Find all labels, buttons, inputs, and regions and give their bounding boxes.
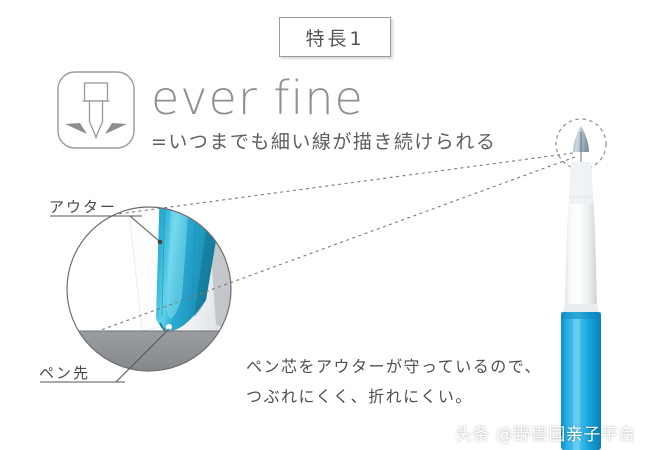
pen-illustration: [519, 118, 649, 450]
feature-description-line-1: ペン芯をアウターが守っているので、: [246, 352, 542, 382]
feature-description: ペン芯をアウターが守っているので、 つぶれにくく、折れにくい。: [246, 352, 542, 412]
brand-wordmark: ever fine: [151, 70, 364, 126]
feature-slide: 特長1 ever fine =いつまでも細い線が描き続けられる: [0, 0, 665, 450]
magnified-pen-tip-detail: [56, 205, 242, 373]
watermark: 头条 @野兽国亲子平台: [455, 420, 636, 445]
pen-tip-icon: [56, 70, 136, 150]
callout-label-pen-tip: ペン先: [39, 362, 90, 383]
feature-number-badge: 特長1: [279, 17, 391, 57]
feature-description-line-2: つぶれにくく、折れにくい。: [246, 382, 542, 412]
feature-number-label: 特長1: [305, 24, 364, 51]
brand-tagline: =いつまでも細い線が描き続けられる: [151, 127, 496, 154]
callout-label-outer: アウター: [49, 196, 117, 217]
